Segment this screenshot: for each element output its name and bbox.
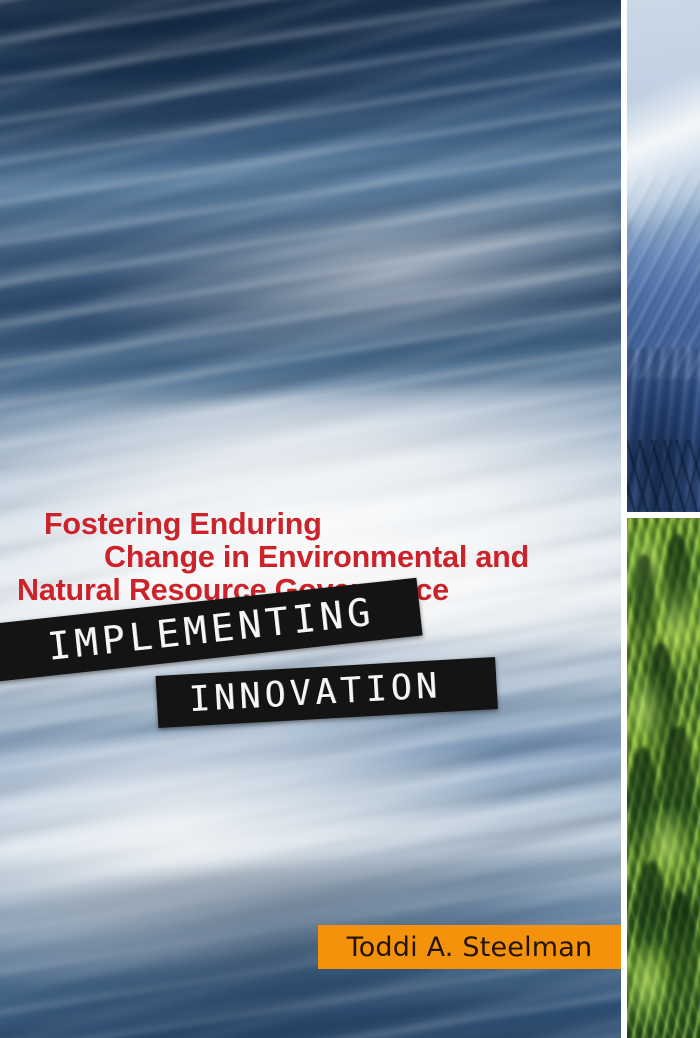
mountain-ridge-highlight <box>627 68 700 240</box>
title-word-innovation: INNOVATION <box>156 666 443 722</box>
forest-sunlit-patch <box>627 944 671 1027</box>
author-name: Toddi A. Steelman <box>347 932 593 963</box>
forest-conifer <box>667 892 696 1027</box>
side-photo-strip <box>627 0 700 1038</box>
author-name-band: Toddi A. Steelman <box>318 925 621 969</box>
side-photo-snowy-mountain <box>627 0 700 512</box>
subtitle-line-1: Fostering Enduring <box>0 508 621 541</box>
forest-conifer <box>665 534 690 638</box>
book-cover: Fostering Enduring Change in Environment… <box>0 0 700 1038</box>
forest-sunlit-patch <box>627 674 666 757</box>
side-photo-green-forest <box>627 518 700 1038</box>
subtitle-line-2: Change in Environmental and <box>0 541 621 574</box>
mountain-foreground-branches <box>627 440 700 512</box>
